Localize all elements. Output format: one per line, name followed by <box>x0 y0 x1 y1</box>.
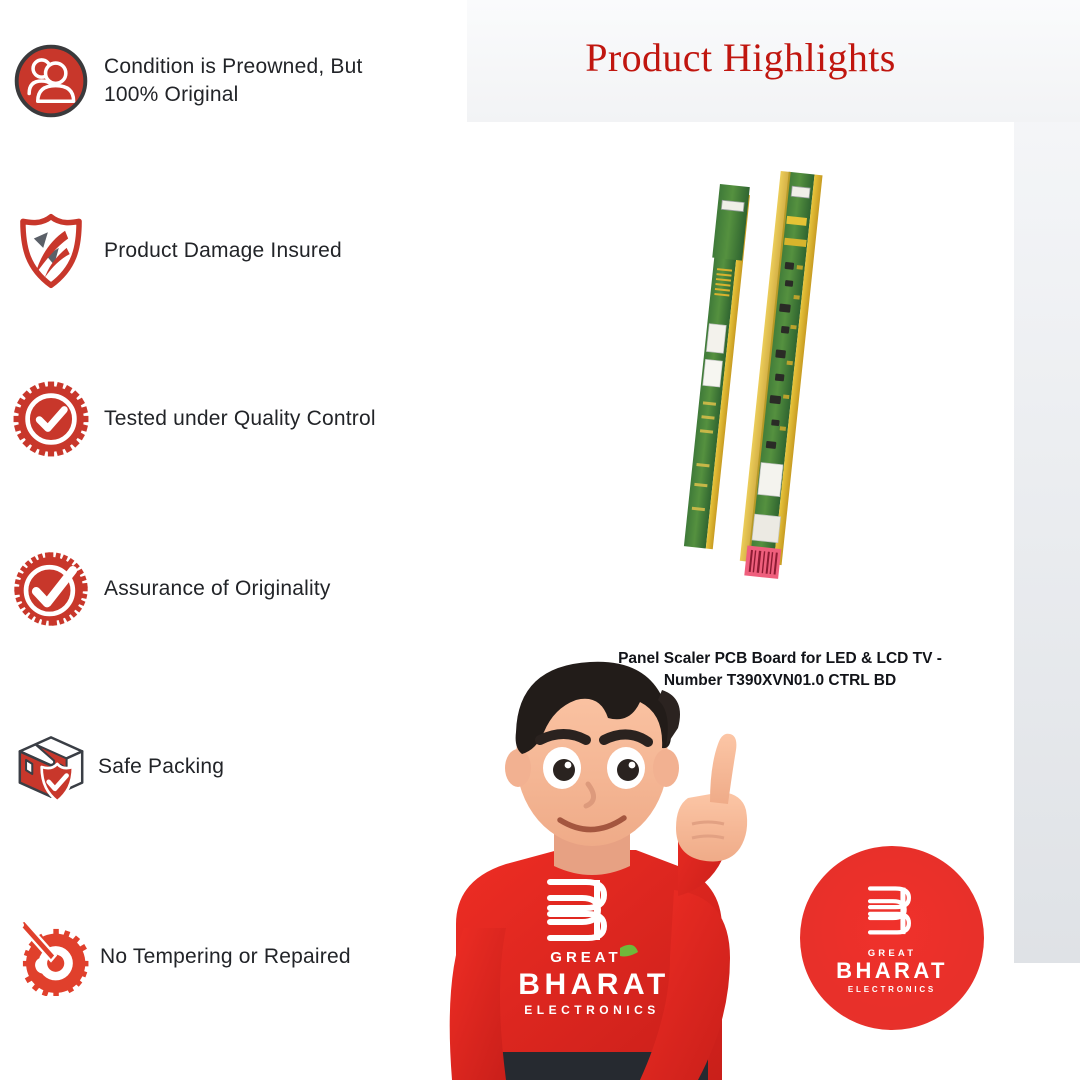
quality-seal-check-icon <box>12 380 90 458</box>
b-monogram-icon <box>865 883 919 943</box>
feature-item-condition: Condition is Preowned, But100% Original <box>12 42 363 120</box>
brand-line-electronics: ELECTRONICS <box>848 985 936 994</box>
box-shield-icon <box>12 728 90 806</box>
wrench-gear-icon <box>12 918 90 996</box>
brand-line-great: GREAT <box>868 948 917 959</box>
feature-item-packing: Safe Packing <box>12 728 224 806</box>
feature-label-insured: Product Damage Insured <box>104 237 342 265</box>
brand-logo-badge: GREAT BHARAT ELECTRONICS <box>800 846 984 1030</box>
mascot-character: GREAT BHARAT ELECTRONICS <box>378 628 808 1080</box>
feature-label-originality: Assurance of Originality <box>104 575 331 603</box>
originality-seal-check-icon <box>12 550 90 628</box>
brand-line-bharat: BHARAT <box>836 960 948 982</box>
feature-item-no-tempering: No Tempering or Repaired <box>12 918 351 996</box>
page-title: Product Highlights <box>467 34 1014 81</box>
users-circle-icon <box>12 42 90 120</box>
feature-item-insured: Product Damage Insured <box>12 212 342 290</box>
svg-text:GREAT: GREAT <box>550 949 621 966</box>
feature-label-condition: Condition is Preowned, But100% Original <box>104 53 363 110</box>
feature-label-no-tempering: No Tempering or Repaired <box>100 943 351 971</box>
shield-icon <box>12 212 90 290</box>
feature-label-quality: Tested under Quality Control <box>104 405 376 433</box>
svg-text:BHARAT: BHARAT <box>518 968 669 1001</box>
feature-item-originality: Assurance of Originality <box>12 550 331 628</box>
product-image <box>640 165 870 585</box>
feature-item-quality: Tested under Quality Control <box>12 380 376 458</box>
feature-label-packing: Safe Packing <box>98 753 224 781</box>
svg-text:ELECTRONICS: ELECTRONICS <box>524 1003 660 1017</box>
